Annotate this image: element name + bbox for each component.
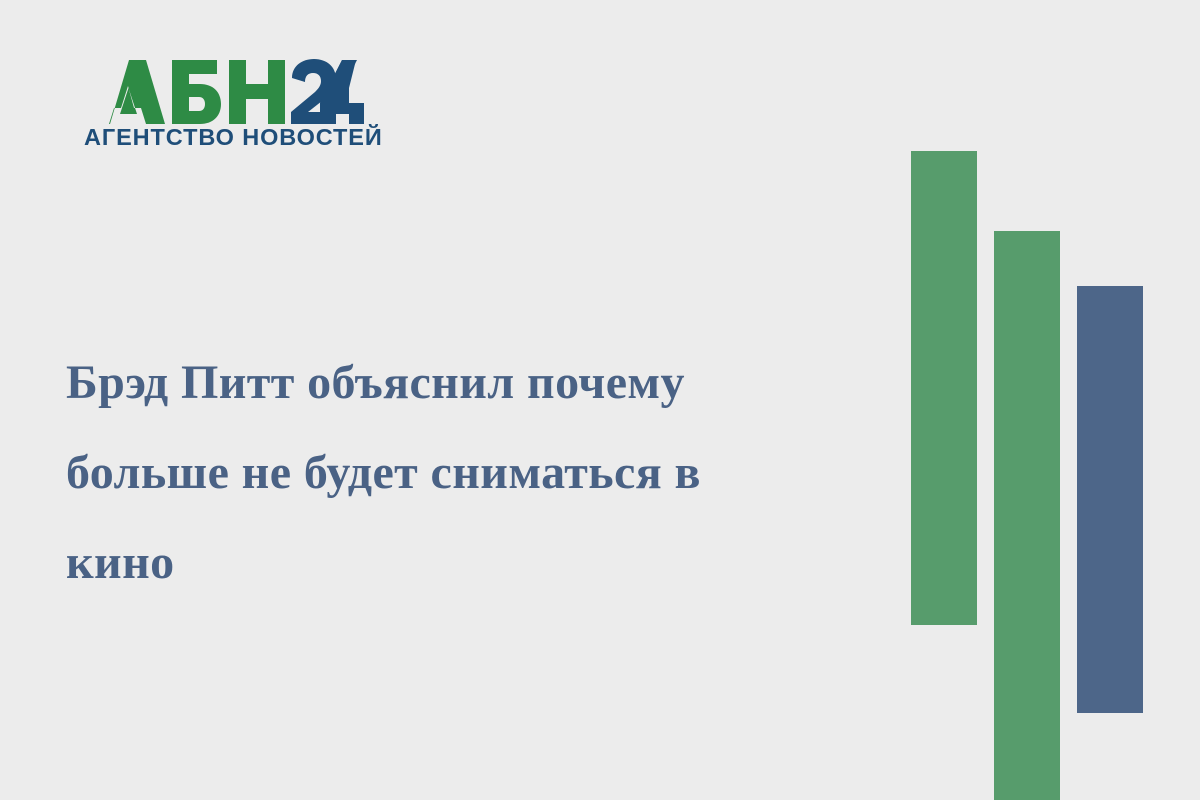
logo-letter-en-icon bbox=[229, 60, 285, 124]
decorative-bar-1 bbox=[911, 151, 977, 625]
headline-line-3: кино bbox=[66, 518, 876, 608]
logo-wordmark-icon bbox=[84, 58, 364, 124]
poster-canvas: АГЕНТСТВО НОВОСТЕЙ Брэд Питт объяснил по… bbox=[0, 0, 1200, 800]
site-logo[interactable]: АГЕНТСТВО НОВОСТЕЙ bbox=[84, 58, 374, 154]
logo-tagline: АГЕНТСТВО НОВОСТЕЙ bbox=[84, 126, 369, 150]
decorative-bar-3 bbox=[1077, 286, 1143, 713]
article-headline: Брэд Питт объяснил почему больше не буде… bbox=[66, 338, 876, 608]
headline-line-2: больше не будет сниматься в bbox=[66, 428, 876, 518]
logo-letter-a-icon bbox=[109, 60, 165, 124]
headline-line-1: Брэд Питт объяснил почему bbox=[66, 338, 876, 428]
logo-letter-be-icon bbox=[172, 60, 221, 124]
decorative-bar-2 bbox=[994, 231, 1060, 800]
